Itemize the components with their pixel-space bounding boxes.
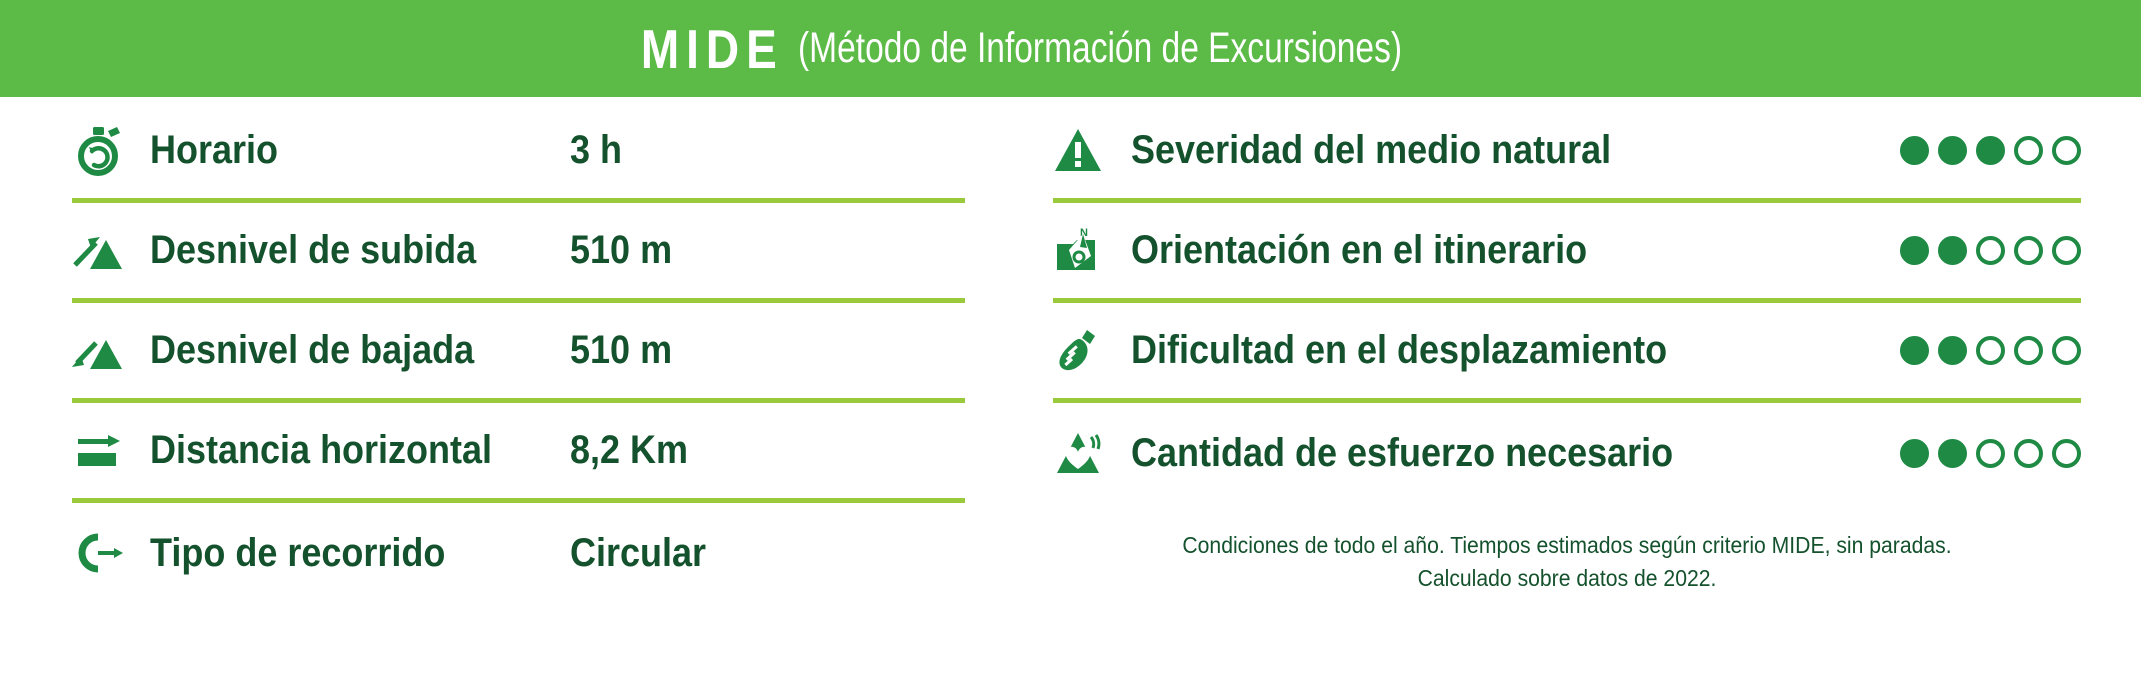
row-value: Circular xyxy=(570,531,926,576)
rating-dot-empty xyxy=(2014,236,2043,265)
row-label: Cantidad de esfuerzo necesario xyxy=(1131,431,1805,476)
mide-acronym: MIDE xyxy=(641,17,784,81)
horizontal-distance-icon xyxy=(72,431,150,471)
row-tipo-recorrido: Tipo de recorrido Circular xyxy=(72,503,965,603)
rating-dots xyxy=(1900,439,2081,468)
rating-dot-empty xyxy=(2052,336,2081,365)
rating-dot-filled xyxy=(1976,136,2005,165)
row-value: 510 m xyxy=(570,328,926,373)
stopwatch-icon xyxy=(72,125,150,177)
rating-dot-filled xyxy=(1900,136,1929,165)
footnote-line-2: Calculado sobre datos de 2022. xyxy=(1094,562,2040,595)
rating-dot-empty xyxy=(2052,136,2081,165)
rating-dot-empty xyxy=(2052,439,2081,468)
rating-dot-empty xyxy=(1976,439,2005,468)
rating-dot-filled xyxy=(1938,336,1967,365)
itinerary-data-column: Horario 3 h Desnivel de subida 510 m xyxy=(0,103,1005,692)
mountain-heart-icon xyxy=(1053,429,1131,477)
footnote: Condiciones de todo el año. Tiempos esti… xyxy=(1094,503,2040,596)
rating-dot-empty xyxy=(2014,136,2043,165)
row-label: Severidad del medio natural xyxy=(1131,128,1805,173)
row-value: 8,2 Km xyxy=(570,428,926,473)
row-desnivel-subida: Desnivel de subida 510 m xyxy=(72,203,965,303)
warning-triangle-icon xyxy=(1053,127,1131,175)
row-distancia-horizontal: Distancia horizontal 8,2 Km xyxy=(72,403,965,503)
rating-dot-empty xyxy=(1976,336,2005,365)
footnote-line-1: Condiciones de todo el año. Tiempos esti… xyxy=(1094,529,2040,562)
mountain-down-arrow-icon xyxy=(72,329,150,373)
rating-dots xyxy=(1900,336,2081,365)
row-horario: Horario 3 h xyxy=(72,103,965,203)
row-label: Tipo de recorrido xyxy=(150,531,528,576)
rating-dot-filled xyxy=(1938,236,1967,265)
row-desnivel-bajada: Desnivel de bajada 510 m xyxy=(72,303,965,403)
rating-dot-empty xyxy=(2014,336,2043,365)
rating-dot-empty xyxy=(1976,236,2005,265)
rating-dot-filled xyxy=(1938,136,1967,165)
row-label: Desnivel de bajada xyxy=(150,328,528,373)
row-label: Orientación en el itinerario xyxy=(1131,228,1805,273)
circular-route-icon xyxy=(72,529,150,577)
row-orientacion: N Orientación en el itinerario xyxy=(1053,203,2081,303)
mide-infographic: MIDE (Método de Información de Excursion… xyxy=(0,0,2141,692)
rating-dot-empty xyxy=(2014,439,2043,468)
rating-dot-filled xyxy=(1938,439,1967,468)
row-value: 510 m xyxy=(570,228,926,273)
mountain-up-arrow-icon xyxy=(72,229,150,273)
mide-subtitle: (Método de Información de Excursiones) xyxy=(798,24,1402,72)
row-dificultad: Dificultad en el desplazamiento xyxy=(1053,303,2081,403)
row-label: Horario xyxy=(150,128,528,173)
difficulty-ratings-column: Severidad del medio natural N xyxy=(1005,103,2141,692)
rating-dot-filled xyxy=(1900,236,1929,265)
row-value: 3 h xyxy=(570,128,926,173)
mide-body: Horario 3 h Desnivel de subida 510 m xyxy=(0,97,2141,692)
rating-dots xyxy=(1900,236,2081,265)
row-esfuerzo: Cantidad de esfuerzo necesario xyxy=(1053,403,2081,503)
row-label: Desnivel de subida xyxy=(150,228,528,273)
rating-dot-filled xyxy=(1900,439,1929,468)
row-label: Distancia horizontal xyxy=(150,428,528,473)
boot-sole-icon xyxy=(1053,326,1131,376)
rating-dot-empty xyxy=(2052,236,2081,265)
row-label: Dificultad en el desplazamiento xyxy=(1131,328,1805,373)
row-severidad: Severidad del medio natural xyxy=(1053,103,2081,203)
rating-dot-filled xyxy=(1900,336,1929,365)
map-compass-icon: N xyxy=(1053,226,1131,276)
mide-header: MIDE (Método de Información de Excursion… xyxy=(0,0,2141,97)
rating-dots xyxy=(1900,136,2081,165)
